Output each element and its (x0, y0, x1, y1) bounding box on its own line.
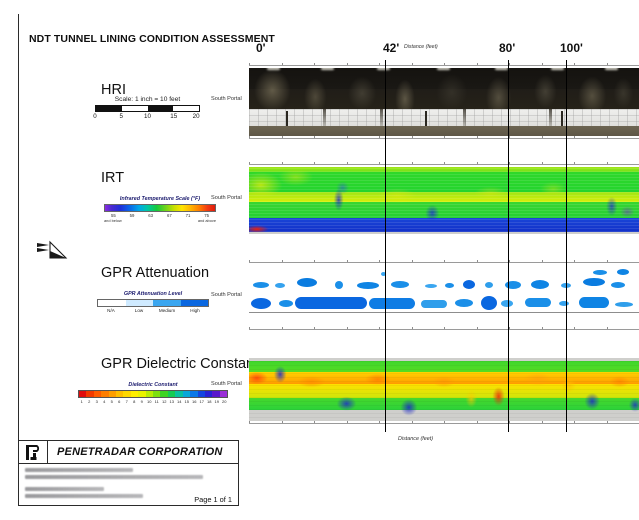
legend-irt-high-note: and above (198, 218, 216, 223)
panel-irt (249, 162, 639, 234)
portal-label-gpr-attenuation: South Portal (211, 292, 242, 298)
panel-label-gpr-dielectric: GPR Dielectric Constant (101, 356, 258, 372)
legend-irt-title: Infrared Temperature Scale (°F) (104, 196, 216, 202)
panel-gpr-attenuation (249, 260, 639, 332)
distance-axis-label-bottom: Distance (feet) (398, 436, 433, 442)
scale-tick: 15 (161, 113, 187, 120)
legend-tick: 5 (108, 399, 116, 404)
legend-dielectric-colorbar (78, 390, 228, 398)
legend-tick: 67 (160, 213, 179, 218)
scale-tick: 0 (82, 113, 108, 120)
legend-tick: 11 (153, 399, 161, 404)
portal-label-gpr-dielectric: South Portal (211, 381, 242, 387)
panel-gpr-dielectric (249, 358, 639, 426)
legend-tick: 20 (221, 399, 229, 404)
redacted-line (25, 475, 203, 479)
legend-dielectric: Dielectric Constant 1 2 3 4 5 6 7 8 9 10… (78, 382, 228, 404)
panel-hri (249, 63, 639, 141)
scale-bar-caption: Scale: 1 inch = 10 feet (95, 96, 200, 103)
title-block: PENETRADAR CORPORATION Page 1 of 1 (18, 440, 239, 506)
drawing-sheet: NDT TUNNEL LINING CONDITION ASSESSMENT H… (0, 0, 639, 520)
scale-tick: 20 (193, 113, 200, 120)
legend-irt-colorbar (104, 204, 216, 212)
scale-bar: Scale: 1 inch = 10 feet 0 5 10 15 20 (95, 96, 200, 120)
gpr-attenuation-map (249, 260, 639, 332)
station-line-80 (508, 60, 509, 432)
legend-category: Low (125, 308, 153, 313)
north-arrow-icon (33, 236, 69, 266)
legend-tick: 17 (198, 399, 206, 404)
legend-tick: 18 (206, 399, 214, 404)
redacted-line (25, 468, 133, 472)
station-label-80: 80' (499, 41, 515, 55)
legend-category: N/A (97, 308, 125, 313)
legend-gpr-attenuation: GPR Attenuation Level N/A Low Medium Hig… (97, 291, 209, 313)
page-number: Page 1 of 1 (194, 495, 232, 504)
station-label-100: 100' (560, 41, 583, 55)
penetradar-logo-icon (19, 441, 48, 463)
legend-tick: 19 (213, 399, 221, 404)
portal-label-irt: South Portal (211, 195, 242, 201)
station-line-100 (566, 60, 567, 432)
legend-tick: 12 (161, 399, 169, 404)
station-label-42: 42' (383, 41, 399, 55)
legend-irt-low-note: and below (104, 218, 122, 223)
legend-tick: 8 (131, 399, 139, 404)
legend-tick: 3 (93, 399, 101, 404)
redacted-line (25, 487, 104, 491)
legend-attenuation-title: GPR Attenuation Level (97, 291, 209, 297)
station-line-42 (385, 60, 386, 432)
scale-bar-graphic (95, 105, 200, 112)
scale-bar-ticks: 0 5 10 15 20 (95, 113, 200, 120)
legend-tick: 6 (116, 399, 124, 404)
panel-label-irt: IRT (101, 170, 124, 186)
legend-tick: 10 (146, 399, 154, 404)
legend-category: Medium (153, 308, 181, 313)
portal-label-hri: South Portal (211, 96, 242, 102)
legend-dielectric-title: Dielectric Constant (78, 382, 228, 388)
legend-tick: 7 (123, 399, 131, 404)
sheet-border-left (18, 14, 19, 506)
page-title: NDT TUNNEL LINING CONDITION ASSESSMENT (29, 33, 275, 45)
station-label-0: 0' (256, 41, 266, 55)
legend-tick: 1 (78, 399, 86, 404)
legend-tick: 16 (191, 399, 199, 404)
legend-tick: 13 (168, 399, 176, 404)
scale-tick: 5 (108, 113, 134, 120)
legend-attenuation-ticks: N/A Low Medium High (97, 308, 209, 313)
legend-dielectric-ticks: 1 2 3 4 5 6 7 8 9 10 11 12 13 14 15 16 1… (78, 399, 228, 404)
legend-tick: 2 (86, 399, 94, 404)
scale-tick: 10 (134, 113, 160, 120)
distance-axis-label-top: Distance (feet) (404, 44, 438, 50)
company-name: PENETRADAR CORPORATION (48, 446, 223, 458)
legend-tick: 9 (138, 399, 146, 404)
legend-tick: 15 (183, 399, 191, 404)
legend-tick: 14 (176, 399, 184, 404)
legend-tick: 4 (101, 399, 109, 404)
legend-tick: 59 (123, 213, 142, 218)
redacted-line (25, 494, 143, 498)
legend-tick: 63 (141, 213, 160, 218)
legend-attenuation-colorbar (97, 299, 209, 307)
legend-tick: 71 (179, 213, 198, 218)
legend-irt: Infrared Temperature Scale (°F) 55 59 63… (104, 196, 216, 223)
panel-label-gpr-attenuation: GPR Attenuation (101, 265, 209, 281)
legend-category: High (181, 308, 209, 313)
